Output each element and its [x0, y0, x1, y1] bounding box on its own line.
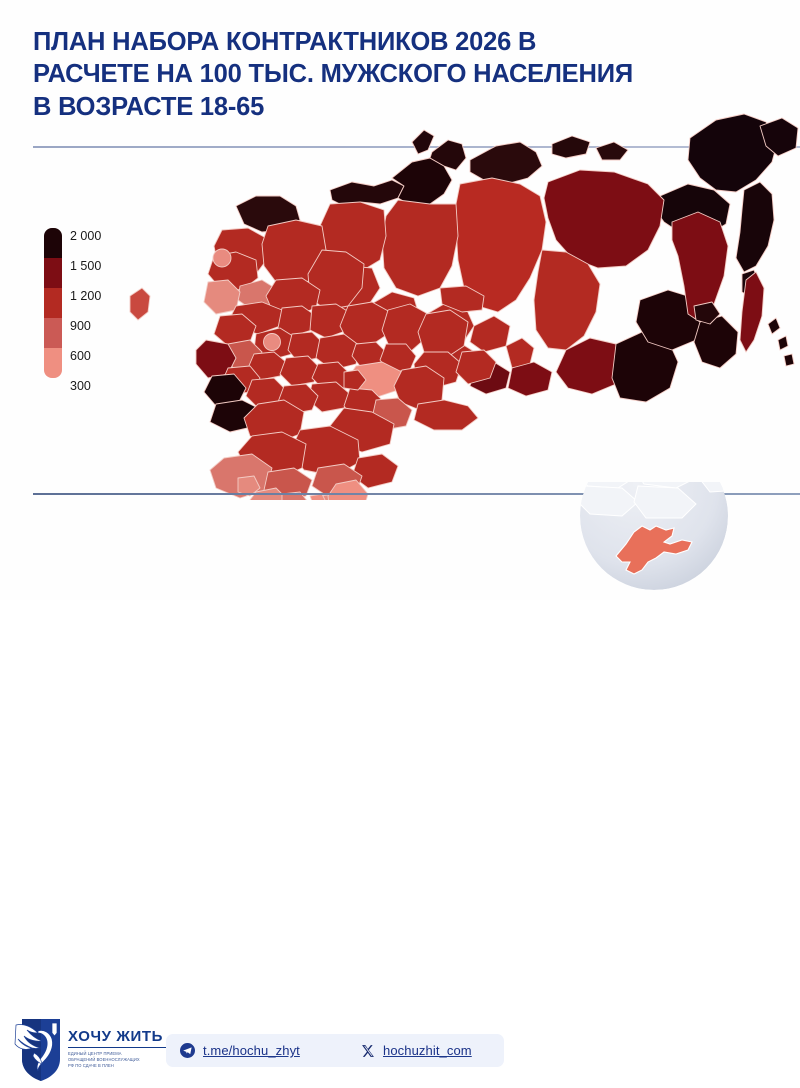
logo-subtitle-line-3: РФ ПО СДАЧЕ В ПЛЕН — [68, 1063, 166, 1069]
page-title-line-1: ПЛАН НАБОРА КОНТРАКТНИКОВ 2026 В — [33, 26, 763, 58]
region-primorsky — [694, 316, 738, 368]
legend-color-bar — [44, 228, 62, 378]
legend-band-4 — [44, 348, 62, 378]
logo-text: ХОЧУ ЖИТЬ ЕДИНЫЙ ЦЕНТР ПРИЕМА ОБРАЩЕНИЙ … — [68, 1029, 166, 1068]
region-kuril-3 — [784, 354, 794, 366]
map-legend: 2 0001 5001 200900600300 — [44, 228, 136, 378]
region-severnaya-zemlya — [552, 136, 590, 158]
shield-dove-icon — [14, 1017, 64, 1083]
footer: ХОЧУ ЖИТЬ ЕДИНЫЙ ЦЕНТР ПРИЕМА ОБРАЩЕНИЙ … — [0, 505, 800, 600]
telegram-icon — [180, 1043, 195, 1058]
region-kuril-1 — [768, 318, 780, 334]
x-twitter-link-label: hochuzhit_com — [383, 1043, 472, 1058]
legend-label-1: 1 500 — [70, 259, 101, 273]
region-kuril-2 — [778, 336, 788, 350]
region-nenets-ao — [330, 180, 404, 206]
region-kemerovo — [470, 316, 510, 352]
legend-band-0 — [44, 228, 62, 258]
legend-band-2 — [44, 288, 62, 318]
telegram-link-label: t.me/hochu_zhyt — [203, 1043, 300, 1058]
region-stpetersburg-dot — [213, 249, 231, 267]
logo-subtitle: ЕДИНЫЙ ЦЕНТР ПРИЕМА ОБРАЩЕНИЙ ВОЕННОСЛУЖ… — [68, 1051, 166, 1068]
legend-label-4: 600 — [70, 349, 91, 363]
legend-band-3 — [44, 318, 62, 348]
infographic-canvas: ПЛАН НАБОРА КОНТРАКТНИКОВ 2026 В РАСЧЕТЕ… — [0, 0, 800, 600]
legend-label-5: 300 — [70, 379, 91, 393]
region-taimyr — [470, 142, 542, 184]
legend-label-0: 2 000 — [70, 229, 101, 243]
region-orenburg — [414, 400, 478, 430]
region-ryazan — [280, 356, 320, 386]
region-novaya-zemlya — [412, 130, 434, 154]
x-twitter-icon — [361, 1044, 375, 1058]
social-links-bar: t.me/hochu_zhyt hochuzhit_com — [166, 1034, 504, 1067]
legend-label-2: 1 200 — [70, 289, 101, 303]
region-siberia-north-central — [382, 200, 458, 296]
region-moscow-dot — [264, 334, 281, 351]
region-tyva — [508, 362, 552, 396]
region-arctic-isl-2 — [596, 142, 628, 160]
legend-band-1 — [44, 258, 62, 288]
region-ingushetia — [310, 494, 326, 500]
page-title-line-2: РАСЧЕТЕ НА 100 ТЫС. МУЖСКОГО НАСЕЛЕНИЯ — [33, 58, 763, 90]
region-kamchatka — [736, 182, 774, 272]
legend-label-3: 900 — [70, 319, 91, 333]
x-twitter-link[interactable]: hochuzhit_com — [361, 1034, 472, 1067]
telegram-link[interactable]: t.me/hochu_zhyt — [180, 1034, 300, 1067]
logo[interactable]: ХОЧУ ЖИТЬ ЕДИНЫЙ ЦЕНТР ПРИЕМА ОБРАЩЕНИЙ … — [14, 1017, 164, 1087]
logo-title: ХОЧУ ЖИТЬ — [68, 1029, 166, 1048]
legend-labels: 2 0001 5001 200900600300 — [70, 228, 140, 408]
